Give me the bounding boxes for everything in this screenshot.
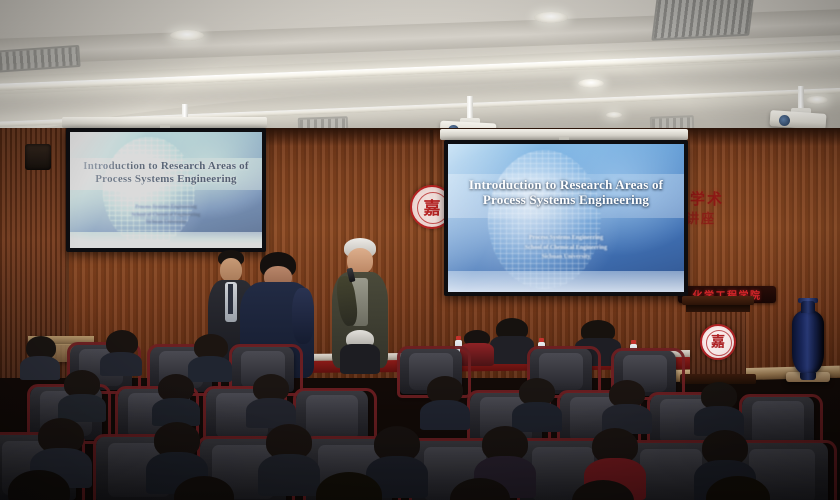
audience-member: [20, 336, 60, 380]
head: [174, 476, 234, 500]
screen-frame-right: Introduction to Research Areas of Proces…: [444, 140, 688, 296]
projector-lens-icon: [779, 115, 790, 126]
head: [572, 480, 634, 500]
audience-member: [300, 472, 400, 500]
slide-right: Introduction to Research Areas of Proces…: [448, 144, 684, 292]
slide-title-line-2: Process Systems Engineering: [448, 192, 684, 207]
globe-graphic: [488, 150, 601, 289]
slide-sub-line-1: Process Systems Engineering: [70, 204, 262, 212]
audience-member: [436, 478, 528, 500]
audience-member: [602, 380, 652, 434]
screen-frame-left: Introduction to Research Areas of Proces…: [66, 128, 266, 252]
projector-pole: [798, 86, 804, 110]
slide-title-line-1: Introduction to Research Areas of: [448, 177, 684, 192]
slide-sub-line-3: Sichuan University: [70, 219, 262, 227]
downlight-icon: [534, 12, 568, 23]
head: [8, 470, 70, 500]
audience-member: [0, 470, 90, 500]
hvac-vent-icon: [0, 45, 81, 73]
slide-subtitle-left: Process Systems Engineering School of Ch…: [70, 204, 262, 227]
hvac-vent-icon: [651, 0, 754, 41]
head: [706, 476, 770, 500]
slide-left: Introduction to Research Areas of Proces…: [70, 132, 262, 248]
lectern-slab: [686, 305, 750, 312]
downlight-icon: [606, 112, 622, 118]
screen-roller-housing: [62, 117, 267, 128]
slide-bottom-band: [70, 232, 262, 248]
projector-right: [770, 86, 832, 124]
slide-bottom-band: [448, 271, 684, 292]
audience-member: [160, 476, 252, 500]
necktie: [228, 284, 233, 314]
slide-sub-line-3: Sichuan University: [448, 253, 684, 262]
audience-member: [690, 476, 790, 500]
slide-sub-line-1: Process Systems Engineering: [448, 234, 684, 243]
slide-sub-line-2: School of Chemical Engineering: [448, 244, 684, 253]
audience-seating: [0, 330, 840, 500]
vase-neck: [801, 301, 815, 313]
audience-member: [512, 378, 562, 432]
lectern-top: [682, 296, 754, 305]
wall-speaker: [25, 144, 51, 170]
slide-sub-line-2: School of Chemical Engineering: [70, 212, 262, 220]
head: [316, 472, 382, 500]
audience-member: [152, 374, 200, 426]
shoulders: [20, 356, 60, 380]
audience-member: [420, 376, 470, 430]
downlight-icon: [170, 30, 204, 41]
projector-center: [440, 96, 500, 132]
head: [450, 478, 510, 500]
slide-title-left: Introduction to Research Areas of Proces…: [70, 160, 262, 186]
wall-red-banner-line-1: 学术: [690, 188, 724, 209]
audience-member: [100, 330, 142, 376]
slide-title-line-1: Introduction to Research Areas of: [70, 160, 262, 173]
slide-title-right: Introduction to Research Areas of Proces…: [448, 177, 684, 208]
audience-member: [694, 382, 744, 436]
seal-glyph: 嘉: [424, 194, 441, 219]
slide-subtitle-right: Process Systems Engineering School of Ch…: [448, 234, 684, 262]
slide-title-line-2: Process Systems Engineering: [70, 173, 262, 186]
head: [220, 258, 242, 282]
wall-red-banner-line-2: 讲座: [686, 208, 716, 227]
projector-pole: [467, 96, 473, 120]
audience-member: [58, 370, 106, 422]
shoulders: [100, 352, 142, 376]
screen-roller-housing: [440, 129, 688, 140]
downlight-icon: [578, 79, 604, 88]
audience-member: [556, 480, 652, 500]
globe-graphic: [103, 137, 195, 246]
audience-member: [246, 374, 296, 428]
lecture-hall-photo: 嘉 学术 讲座 化学工程学院 Introduction to Research …: [0, 0, 840, 500]
